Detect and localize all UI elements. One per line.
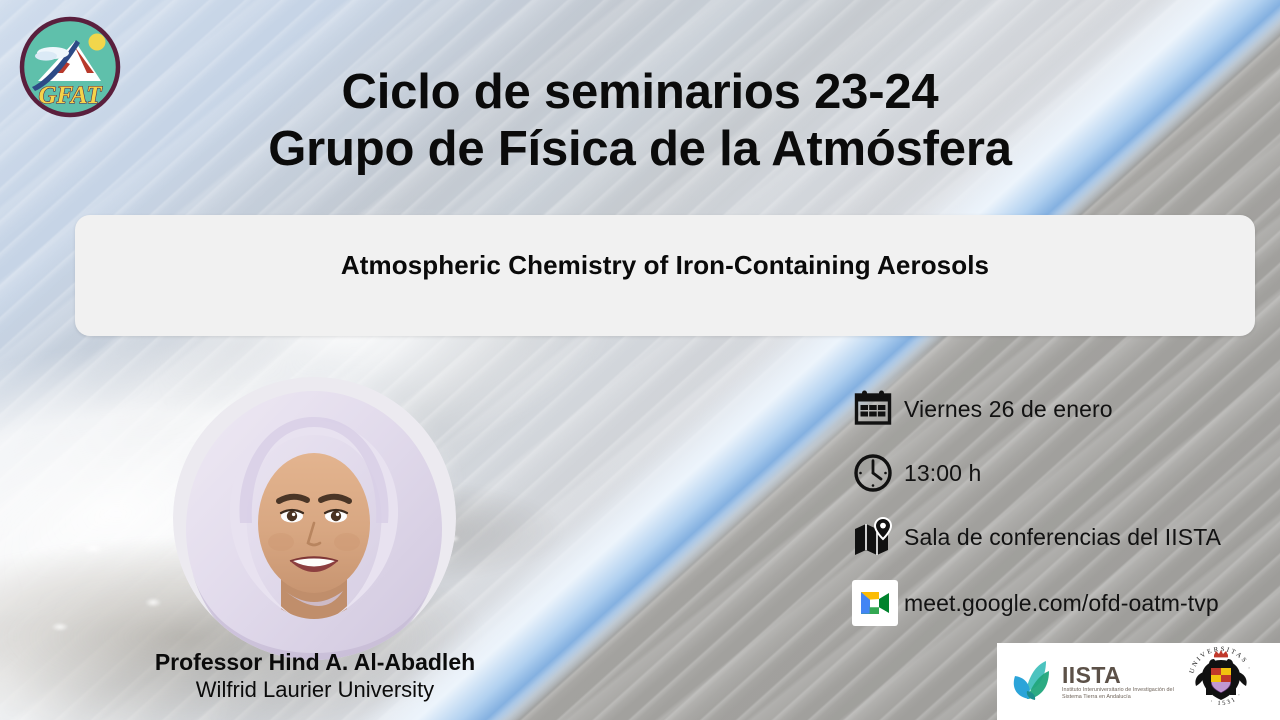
info-row-location: Sala de conferencias del IISTA <box>852 516 1221 558</box>
heading-line-1: Ciclo de seminarios 23-24 <box>0 64 1280 120</box>
iista-wordmark: IISTA <box>1062 663 1180 687</box>
iista-leaf-mark <box>1005 656 1057 708</box>
iista-subtitle: Instituto Interuniversitario de Investig… <box>1062 687 1180 701</box>
info-row-time: 13:00 h <box>852 452 1221 494</box>
footer-logo-panel: IISTA Instituto Interuniversitario de In… <box>997 643 1280 720</box>
speaker-portrait <box>173 377 456 660</box>
event-time: 13:00 h <box>904 460 981 487</box>
google-meet-icon <box>852 580 904 626</box>
info-row-date: Viernes 26 de enero <box>852 388 1221 430</box>
calendar-icon <box>852 388 904 430</box>
iista-text-block: IISTA Instituto Interuniversitario de In… <box>1062 663 1180 701</box>
info-row-meeting-link[interactable]: meet.google.com/ofd-oatm-tvp <box>852 580 1221 626</box>
poster-heading: Ciclo de seminarios 23-24 Grupo de Físic… <box>0 64 1280 178</box>
seminar-poster: GFAT Ciclo de seminarios 23-24 Grupo de … <box>0 0 1280 720</box>
clock-icon <box>852 452 904 494</box>
speaker-caption: Professor Hind A. Al-Abadleh Wilfrid Lau… <box>0 648 630 704</box>
event-date: Viernes 26 de enero <box>904 396 1113 423</box>
meeting-link[interactable]: meet.google.com/ofd-oatm-tvp <box>904 590 1219 617</box>
event-info-list: Viernes 26 de enero 13:00 h <box>852 388 1221 626</box>
ugr-seal: UNIVERSITAS · GRANATENSIS · 1531 · <box>1184 642 1258 716</box>
iista-logo: IISTA Instituto Interuniversitario de In… <box>997 656 1180 708</box>
speaker-name: Professor Hind A. Al-Abadleh <box>0 648 630 676</box>
ugr-logo: UNIVERSITAS · GRANATENSIS · 1531 · <box>1184 642 1258 720</box>
event-location: Sala de conferencias del IISTA <box>904 524 1221 551</box>
talk-title-panel: Atmospheric Chemistry of Iron-Containing… <box>75 215 1255 336</box>
heading-line-2: Grupo de Física de la Atmósfera <box>0 120 1280 178</box>
speaker-affiliation: Wilfrid Laurier University <box>0 676 630 704</box>
talk-title: Atmospheric Chemistry of Iron-Containing… <box>313 250 1017 281</box>
map-pin-icon <box>852 516 904 558</box>
